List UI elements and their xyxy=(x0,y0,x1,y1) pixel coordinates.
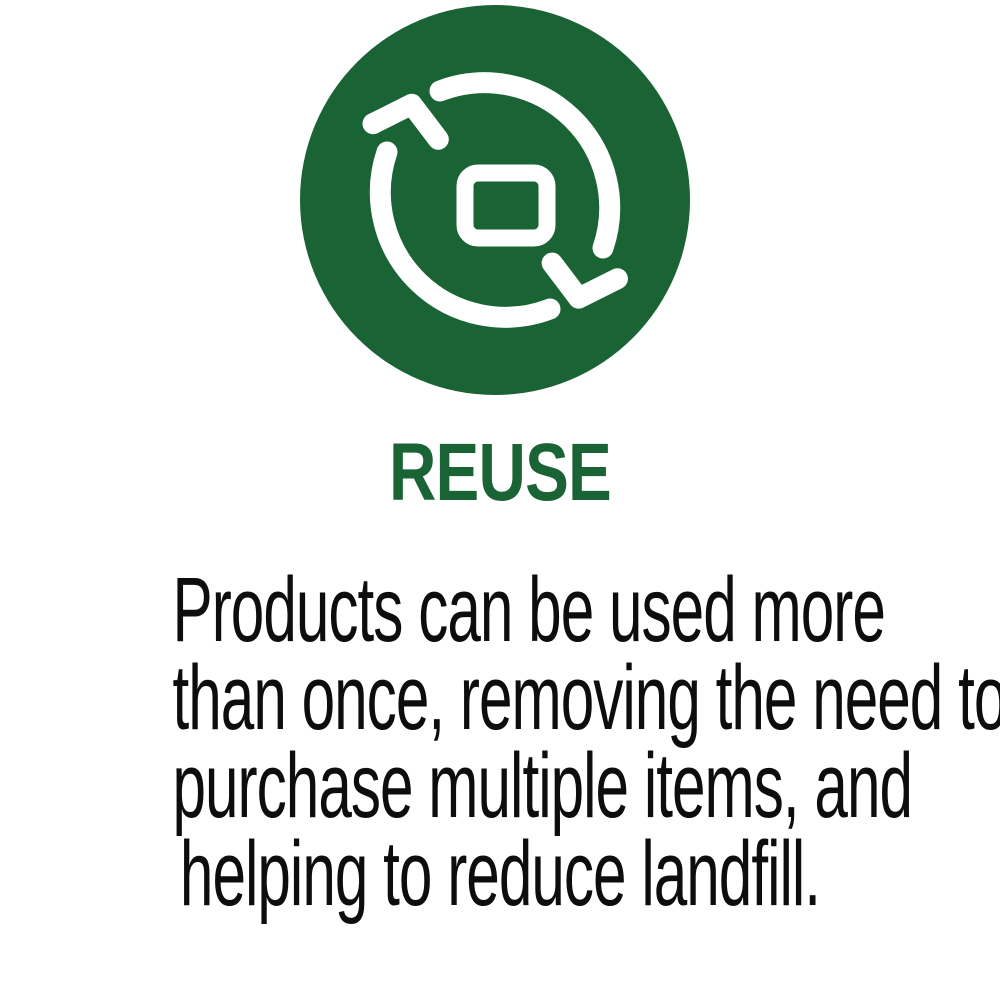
icon-background-circle xyxy=(300,5,690,395)
reuse-cycle-svg xyxy=(300,5,690,395)
description-line: purchase multiple items, and xyxy=(173,742,828,830)
reuse-info-card: REUSE Products can be used more than onc… xyxy=(0,0,1000,1000)
description-line: helping to reduce landfill. xyxy=(173,830,828,918)
reuse-cycle-icon xyxy=(300,5,690,395)
page-title: REUSE xyxy=(100,432,900,514)
description-text: Products can be used more than once, rem… xyxy=(0,566,1000,918)
description-line: Products can be used more xyxy=(173,566,828,654)
description-line: than once, removing the need to xyxy=(173,654,828,742)
